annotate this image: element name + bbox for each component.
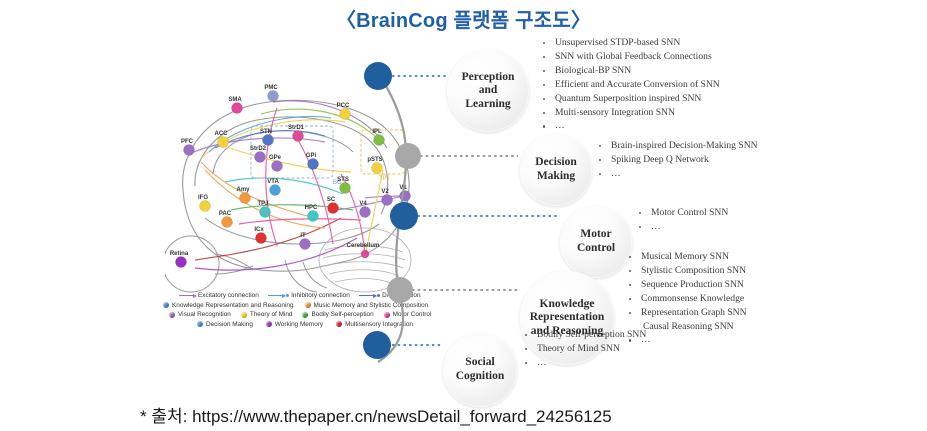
module-label-line: Motor [580, 228, 611, 240]
connector-node-motor[interactable] [390, 202, 418, 230]
bullet-item: Multi-sensory Integration SNN [540, 106, 720, 120]
module-label: PerceptionandLearning [462, 71, 515, 112]
bullet-item: Stylistic Composition SNN [626, 264, 747, 278]
bullet-item: Unsupervised STDP-based SNN [540, 36, 720, 50]
bullet-item: Musical Memory SNN [626, 250, 747, 264]
module-label-line: and [479, 84, 498, 96]
module-label-line: Cognition [456, 370, 505, 382]
connector-node-perception[interactable] [364, 62, 392, 90]
bullet-item: Motor Control SNN [636, 206, 728, 220]
architecture-diagram: BG TPJ PMCSMAACCPFCSTNStrD1StrD2GPeGPiPC… [0, 28, 927, 388]
bullet-item: Spiking Deep Q Network [596, 153, 758, 167]
module-label: MotorControl [577, 228, 615, 255]
bullet-item: … [636, 220, 728, 234]
bullet-item: … [522, 356, 646, 370]
module-label-line: Making [537, 170, 575, 182]
connector-node-knowledge[interactable] [387, 277, 413, 303]
module-label: SocialCognition [456, 356, 505, 383]
bullet-list-perception-and-learning: Unsupervised STDP-based SNNSNN with Glob… [540, 36, 720, 133]
module-label-line: Representation [530, 311, 605, 323]
module-circle-motor-control[interactable]: MotorControl [560, 206, 632, 278]
module-circle-perception-and-learning[interactable]: PerceptionandLearning [447, 50, 529, 132]
module-label-line: Learning [465, 98, 510, 110]
slide-root: 〈BrainCog 플랫폼 구조도〉 [0, 0, 927, 431]
bullet-item: SNN with Global Feedback Connections [540, 50, 720, 64]
bullet-item: Brain-inspired Decision-Making SNN [596, 139, 758, 153]
source-caption: * 출처: https://www.thepaper.cn/newsDetail… [140, 402, 612, 427]
bullet-list-motor-control: Motor Control SNN… [636, 206, 728, 234]
connector-node-decision[interactable] [395, 143, 421, 169]
bullet-item: Quantum Superposition inspired SNN [540, 92, 720, 106]
bullet-list-social-cognition: Bodily Self-perception SNNTheory of Mind… [522, 328, 646, 370]
module-label-line: Decision [535, 156, 577, 168]
bullet-item: Biological-BP SNN [540, 64, 720, 78]
bullet-item: … [540, 119, 720, 133]
bullet-item: Theory of Mind SNN [522, 342, 646, 356]
bullet-item: Bodily Self-perception SNN [522, 328, 646, 342]
module-label-line: Perception [462, 71, 515, 83]
bullet-list-decision-making: Brain-inspired Decision-Making SNNSpikin… [596, 139, 758, 181]
connector-node-social[interactable] [363, 331, 391, 359]
module-circle-social-cognition[interactable]: SocialCognition [443, 333, 517, 407]
bullet-item: Commonsense Knowledge [626, 292, 747, 306]
module-label-line: Control [577, 242, 615, 254]
bullet-item: Representation Graph SNN [626, 306, 747, 320]
bullet-item: Sequence Production SNN [626, 278, 747, 292]
module-circle-decision-making[interactable]: DecisionMaking [520, 134, 592, 206]
bullet-item: Efficient and Accurate Conversion of SNN [540, 78, 720, 92]
module-label: DecisionMaking [535, 156, 577, 183]
bullet-item: … [596, 167, 758, 181]
module-label-line: Social [465, 356, 494, 368]
module-label-line: Knowledge [540, 298, 595, 310]
